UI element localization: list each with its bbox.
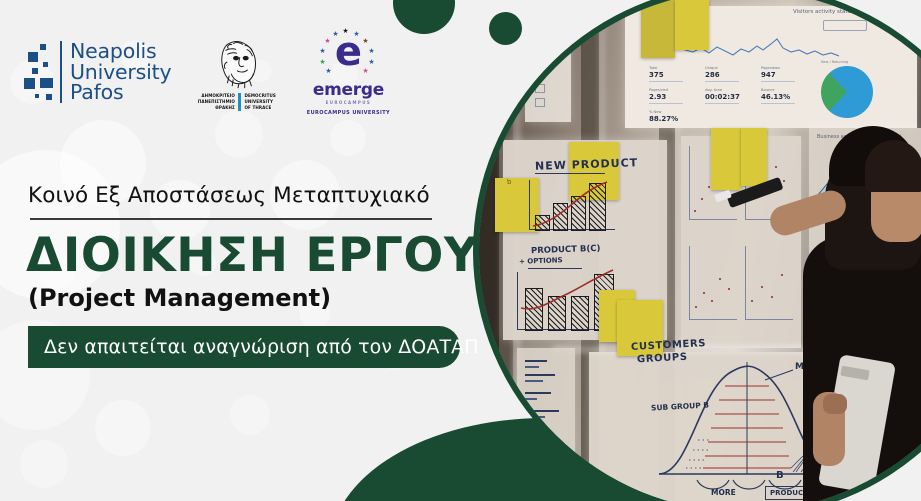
photo-stat-5: 00:02:37 <box>705 93 740 101</box>
democritus-bust-icon <box>208 33 266 91</box>
emerge-wordmark-sub: EUROCAMPUS <box>326 100 372 105</box>
democritus-en-3: OF THRACE <box>244 105 276 111</box>
photo-note-product-b-options: + OPTIONS <box>519 256 563 266</box>
doatap-badge-label: Δεν απαιτείται αναγνώριση από τον ΔΟΑΤΑΠ <box>28 336 479 358</box>
photo-dashboard-title: Visitors activity statistics <box>793 9 862 15</box>
program-subtitle: (Project Management) <box>28 284 331 312</box>
emerge-wordmark: emerge <box>313 82 384 99</box>
neapolis-dots-icon <box>24 40 58 104</box>
neapolis-divider <box>60 41 62 103</box>
neapolis-wordmark: Neapolis University Pafos <box>70 41 171 103</box>
doatap-badge: Δεν απαιτείται αναγνώριση από τον ΔΟΑΤΑΠ <box>28 326 460 368</box>
photo-stat-4: 2.93 <box>649 93 666 101</box>
logo-democritus-university: ΔΗΜΟΚΡΙΤΕΙΟ ΠΑΝΕΠΙΣΤΗΜΙΟ ΘΡΑΚΗΣ DEMOCRIT… <box>189 33 284 111</box>
emerge-tagline: EUROCAMPUS UNIVERSITY <box>307 110 390 116</box>
democritus-english-text: DEMOCRITUS UNIVERSITY OF THRACE <box>244 93 276 111</box>
democritus-gr-3: ΘΡΑΚΗΣ <box>198 105 235 111</box>
photo-stat-3: 947 <box>761 71 776 79</box>
whiteboard-photo: Visitors activity statistics Total 375 U… <box>479 0 921 501</box>
logo-row: Neapolis University Pafos <box>24 28 394 116</box>
photo-stat-1: 375 <box>649 71 664 79</box>
photo-scene: Visitors activity statistics Total 375 U… <box>479 0 921 501</box>
program-title: ΔΙΟΙΚΗΣΗ ΕΡΓΟΥ <box>26 228 478 283</box>
photo-note-more: MORE <box>711 488 736 497</box>
photo-stat-6: 46.13% <box>761 93 790 101</box>
photo-stat-7: 88.27% <box>649 115 678 123</box>
promo-banner: Visitors activity statistics Total 375 U… <box>0 0 921 501</box>
democritus-wordmark: ΔΗΜΟΚΡΙΤΕΙΟ ΠΑΝΕΠΙΣΤΗΜΙΟ ΘΡΑΚΗΣ DEMOCRIT… <box>198 93 276 111</box>
logo-emerge-eurocampus: ★ ★ ★ ★ ★ ★ ★ ★ ★ ★ ★ e emerge EUROCAMPU… <box>302 28 394 116</box>
democritus-greek-text: ΔΗΜΟΚΡΙΤΕΙΟ ΠΑΝΕΠΙΣΤΗΜΙΟ ΘΡΑΚΗΣ <box>198 93 235 111</box>
photo-axis-label-b: B <box>776 470 784 481</box>
neapolis-line-3: Pafos <box>70 82 171 103</box>
logo-neapolis-university-pafos: Neapolis University Pafos <box>24 35 171 109</box>
neapolis-line-1: Neapolis <box>70 41 171 62</box>
neapolis-line-2: University <box>70 62 171 83</box>
emerge-e-glyph: e <box>335 32 362 72</box>
democritus-divider <box>238 93 242 111</box>
photo-stat-2: 286 <box>705 71 720 79</box>
kicker-text: Κοινό Εξ Αποστάσεως Μεταπτυχιακό <box>28 183 430 208</box>
kicker-underline <box>30 218 432 220</box>
emerge-star-circle-icon: ★ ★ ★ ★ ★ ★ ★ ★ ★ ★ ★ e <box>316 28 380 82</box>
photo-disc: Visitors activity statistics Total 375 U… <box>479 0 921 501</box>
